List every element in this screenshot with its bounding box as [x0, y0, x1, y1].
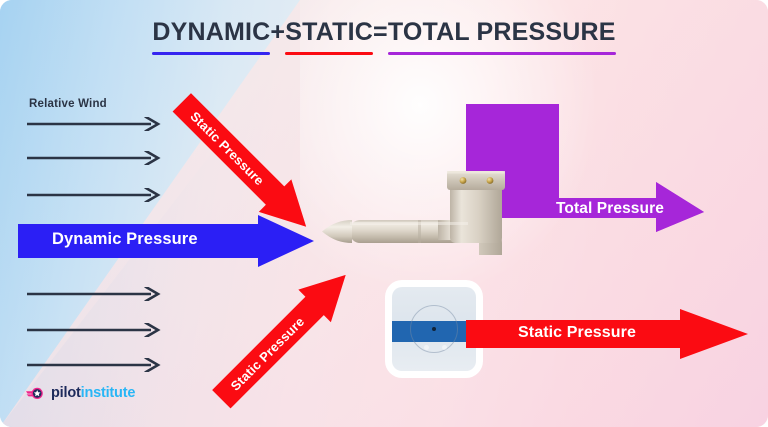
relative-wind-label: Relative Wind: [29, 98, 107, 110]
wind-arrow-3: [27, 188, 164, 202]
title-equation: DYNAMIC + STATIC = TOTAL PRESSURE: [152, 18, 615, 52]
wind-arrow-1: [27, 117, 164, 131]
logo-text-institute: institute: [81, 385, 136, 401]
logo-text: pilotinstitute: [51, 385, 135, 401]
diagram-canvas: DYNAMIC + STATIC = TOTAL PRESSURE Relati…: [0, 0, 768, 427]
arrow-right-line-icon: [27, 188, 164, 202]
static-port-hole: [432, 327, 436, 331]
brand-logo[interactable]: pilotinstitute: [26, 385, 135, 401]
title-term-dynamic: DYNAMIC: [152, 18, 270, 52]
wind-arrow-2: [27, 151, 164, 165]
title-term-static: STATIC: [285, 18, 373, 52]
title-plus: +: [270, 18, 285, 47]
title-equals: =: [373, 18, 388, 47]
pitot-tube-image: [318, 163, 528, 263]
arrow-right-line-icon: [27, 358, 164, 372]
logo-text-pilot: pilot: [51, 385, 81, 401]
wind-arrow-4: [27, 287, 164, 301]
arrow-right-line-icon: [27, 151, 164, 165]
arrow-right-line-icon: [27, 287, 164, 301]
static-port-rivet-left: [424, 345, 429, 350]
static-pressure-output-label: Static Pressure: [518, 324, 636, 342]
page-title: DYNAMIC + STATIC = TOTAL PRESSURE: [0, 18, 768, 52]
static-port-rivet-right: [442, 345, 447, 350]
total-pressure-label: Total Pressure: [556, 200, 664, 218]
dynamic-pressure-label: Dynamic Pressure: [52, 230, 198, 249]
pitot-tube-probe-icon: [318, 163, 528, 263]
wind-arrow-6: [27, 358, 164, 372]
arrow-right-line-icon: [27, 323, 164, 337]
static-port-plate-icon: [392, 287, 476, 371]
arrow-right-line-icon: [27, 117, 164, 131]
title-term-total: TOTAL PRESSURE: [388, 18, 616, 52]
wind-arrow-5: [27, 323, 164, 337]
winged-star-badge-icon: [26, 386, 46, 401]
